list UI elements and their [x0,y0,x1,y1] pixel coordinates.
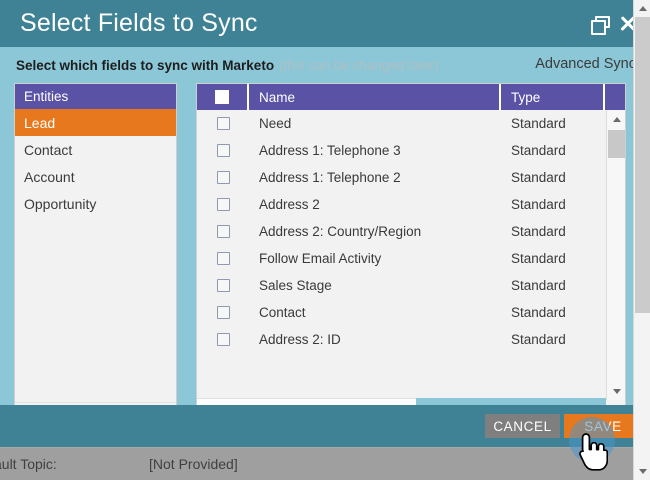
subtitle-note: (this can be changed later) [279,58,439,73]
entities-header: Entities [15,84,176,109]
fields-rows-viewport: NeedStandardAddress 1: Telephone 3Standa… [197,110,625,400]
field-type-cell: Standard [501,170,605,185]
page-scroll-down-button[interactable] [634,463,650,480]
column-header-name[interactable]: Name [249,84,501,110]
field-name-cell: Address 2: Country/Region [249,224,501,239]
dialog-body: Select which fields to sync with Marketo… [0,47,650,447]
background-field-row: ault Topic: [Not Provided] [0,448,650,480]
dialog-title: Select Fields to Sync [20,9,258,38]
entity-item-opportunity[interactable]: Opportunity [15,190,176,217]
row-checkbox-cell[interactable] [197,252,249,265]
entity-item-label: Opportunity [24,196,96,212]
field-type-cell: Standard [501,305,605,320]
entities-list: LeadContactAccountOpportunity [15,109,176,217]
field-name-cell: Need [249,116,501,131]
row-checkbox[interactable] [217,333,230,346]
cancel-button[interactable]: CANCEL [485,414,560,438]
field-name-cell: Contact [249,305,501,320]
row-checkbox[interactable] [217,198,230,211]
chevron-up-icon [613,117,621,122]
row-checkbox-cell[interactable] [197,144,249,157]
entity-item-label: Account [24,169,75,185]
table-row[interactable]: Address 1: Telephone 2Standard [197,164,625,191]
select-all-cell[interactable] [197,84,249,110]
column-header-pad [605,84,625,110]
table-row[interactable]: Address 2Standard [197,191,625,218]
field-type-cell: Standard [501,278,605,293]
entity-item-label: Lead [24,115,55,131]
chevron-down-icon [639,469,647,474]
table-row[interactable]: Address 2: IDStandard [197,326,625,353]
row-checkbox-cell[interactable] [197,225,249,238]
row-checkbox-cell[interactable] [197,333,249,346]
field-type-cell: Standard [501,197,605,212]
advanced-sync-link[interactable]: Advanced Sync [535,56,636,72]
dialog-footer: CANCEL SAVE [0,405,650,447]
row-checkbox[interactable] [217,252,230,265]
field-name-cell: Address 2: ID [249,332,501,347]
field-type-cell: Standard [501,251,605,266]
table-row[interactable]: Address 1: Telephone 3Standard [197,137,625,164]
fields-scroll-up-button[interactable] [607,110,626,128]
row-checkbox[interactable] [217,225,230,238]
field-name-cell: Address 2 [249,197,501,212]
table-row[interactable]: Sales StageStandard [197,272,625,299]
background-field-value: [Not Provided] [149,456,238,472]
field-name-cell: Address 1: Telephone 2 [249,170,501,185]
row-checkbox-cell[interactable] [197,306,249,319]
column-header-type[interactable]: Type [501,84,605,110]
field-name-cell: Address 1: Telephone 3 [249,143,501,158]
select-all-checkbox[interactable] [215,90,229,104]
row-checkbox[interactable] [217,279,230,292]
page-scroll-thumb[interactable] [635,17,650,313]
page-root: ault Topic: [Not Provided] Select Fields… [0,0,650,480]
field-name-cell: Sales Stage [249,278,501,293]
restore-icon[interactable] [591,16,606,31]
background-field-label: ault Topic: [0,456,149,472]
fields-vertical-scrollbar[interactable] [606,110,625,400]
entities-panel: Entities LeadContactAccountOpportunity [14,83,177,425]
window-controls [591,0,636,47]
field-name-cell: Follow Email Activity [249,251,501,266]
row-checkbox[interactable] [217,306,230,319]
table-row[interactable]: Address 2: Country/RegionStandard [197,218,625,245]
entity-item-contact[interactable]: Contact [15,136,176,163]
field-type-cell: Standard [501,224,605,239]
entity-item-lead[interactable]: Lead [15,109,176,136]
select-fields-dialog: Select Fields to Sync Select which field… [0,0,650,447]
field-type-cell: Standard [501,143,605,158]
fields-scroll-down-button[interactable] [607,382,626,400]
field-type-cell: Standard [501,116,605,131]
row-checkbox-cell[interactable] [197,279,249,292]
table-row[interactable]: NeedStandard [197,110,625,137]
entity-item-account[interactable]: Account [15,163,176,190]
page-scroll-up-button[interactable] [634,0,650,17]
fields-table-header: Name Type [197,84,625,110]
row-checkbox[interactable] [217,171,230,184]
chevron-down-icon [613,389,621,394]
row-checkbox[interactable] [217,117,230,130]
table-row[interactable]: Follow Email ActivityStandard [197,245,625,272]
fields-table-panel: Name Type NeedStandardAddress 1: Telepho… [196,83,626,425]
page-vertical-scrollbar[interactable] [633,0,650,480]
row-checkbox-cell[interactable] [197,198,249,211]
row-checkbox-cell[interactable] [197,117,249,130]
dialog-titlebar: Select Fields to Sync [0,0,650,47]
row-checkbox-cell[interactable] [197,171,249,184]
row-checkbox[interactable] [217,144,230,157]
table-row[interactable]: ContactStandard [197,299,625,326]
fields-scroll-thumb[interactable] [608,130,625,158]
fields-rows: NeedStandardAddress 1: Telephone 3Standa… [197,110,625,353]
save-button[interactable]: SAVE [564,414,642,438]
subtitle-text: Select which fields to sync with Marketo [16,58,274,73]
field-type-cell: Standard [501,332,605,347]
entity-item-label: Contact [24,142,72,158]
chevron-up-icon [639,6,647,11]
